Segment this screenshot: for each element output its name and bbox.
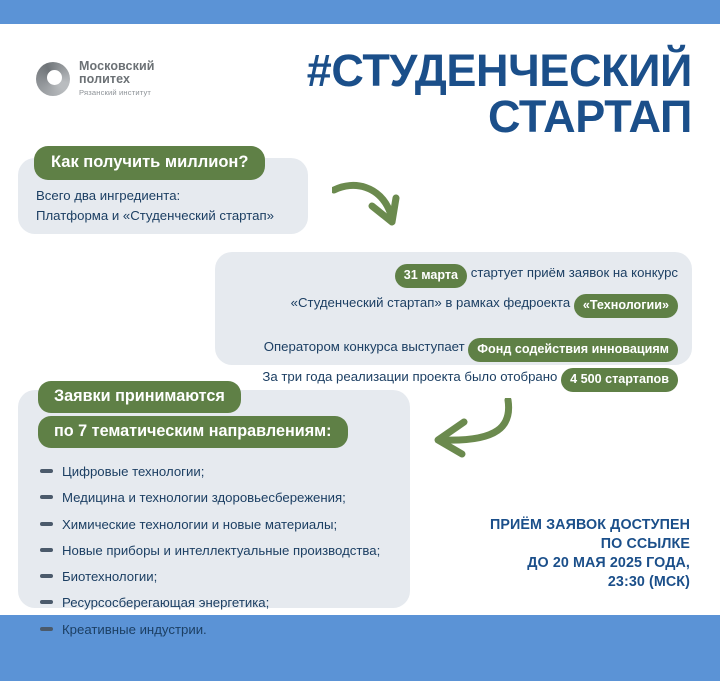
dash-bullet-icon bbox=[40, 574, 53, 578]
card1-heading-badge: Как получить миллион? bbox=[34, 146, 265, 180]
card-contest-details: 31 марта стартует приём заявок на конкур… bbox=[215, 252, 692, 365]
card-thematic-areas: Заявки принимаются по 7 тематическим нап… bbox=[18, 390, 410, 608]
card2-line-1-text: стартует приём заявок на конкурс bbox=[471, 265, 678, 280]
logo-line-2: политех bbox=[79, 73, 155, 86]
dash-bullet-icon bbox=[40, 522, 53, 526]
list-item: Медицина и технологии здоровьесбережения… bbox=[40, 488, 380, 508]
note-line-1: ПРИЁМ ЗАЯВОК ДОСТУПЕН bbox=[430, 516, 690, 535]
list-item: Новые приборы и интеллектуальные произво… bbox=[40, 541, 380, 561]
dash-bullet-icon bbox=[40, 548, 53, 552]
list-item: Ресурсосберегающая энергетика; bbox=[40, 593, 380, 613]
card-how-to-get-a-million: Как получить миллион? Всего два ингредие… bbox=[18, 158, 308, 234]
note-line-4: 23:30 (МСК) bbox=[430, 573, 690, 592]
list-item: Цифровые технологии; bbox=[40, 462, 380, 482]
card2-line-2-text: «Студенческий стартап» в рамках федроект… bbox=[291, 295, 571, 310]
card2-body: 31 марта стартует приём заявок на конкур… bbox=[262, 263, 678, 397]
badge-operator: Фонд содействия инновациям bbox=[468, 338, 678, 362]
card2-spacer bbox=[262, 323, 678, 337]
list-item: Биотехнологии; bbox=[40, 567, 380, 587]
thematic-areas-list: Цифровые технологии; Медицина и технолог… bbox=[40, 462, 380, 646]
card2-line-3-text: Оператором конкурса выступает bbox=[264, 339, 465, 354]
list-item-label: Химические технологии и новые материалы; bbox=[62, 515, 337, 535]
badge-startups-count: 4 500 стартапов bbox=[561, 368, 678, 392]
ring-logo-icon bbox=[36, 62, 70, 96]
dash-bullet-icon bbox=[40, 627, 53, 631]
list-item-label: Цифровые технологии; bbox=[62, 462, 204, 482]
card3-heading-line-2: по 7 тематическим направлениям: bbox=[38, 416, 348, 448]
badge-date: 31 марта bbox=[395, 264, 467, 288]
list-item: Химические технологии и новые материалы; bbox=[40, 515, 380, 535]
list-item-label: Биотехнологии; bbox=[62, 567, 157, 587]
dash-bullet-icon bbox=[40, 495, 53, 499]
top-blue-bar bbox=[0, 0, 720, 24]
note-line-2: ПО ССЫЛКЕ bbox=[430, 535, 690, 554]
list-item-label: Медицина и технологии здоровьесбережения… bbox=[62, 488, 346, 508]
logo-line-3: Рязанский институт bbox=[79, 89, 155, 97]
card1-body-line-1: Всего два ингредиента: bbox=[36, 186, 274, 206]
page-title-line-2: СТАРТАП bbox=[172, 94, 692, 140]
moscow-polytech-logo: Московский политех Рязанский институт bbox=[36, 60, 155, 97]
note-line-3: ДО 20 МАЯ 2025 ГОДА, bbox=[430, 554, 690, 573]
card1-body-line-2: Платформа и «Студенческий стартап» bbox=[36, 206, 274, 226]
card2-line-3: Оператором конкурса выступает Фонд содей… bbox=[262, 337, 678, 362]
application-deadline-note: ПРИЁМ ЗАЯВОК ДОСТУПЕН ПО ССЫЛКЕ ДО 20 МА… bbox=[430, 516, 690, 591]
logo-text: Московский политех Рязанский институт bbox=[79, 60, 155, 97]
list-item-label: Ресурсосберегающая энергетика; bbox=[62, 593, 269, 613]
card1-body: Всего два ингредиента: Платформа и «Студ… bbox=[36, 186, 274, 226]
page-title: #СТУДЕНЧЕСКИЙ СТАРТАП bbox=[172, 48, 692, 141]
page-title-line-1: #СТУДЕНЧЕСКИЙ bbox=[172, 48, 692, 94]
list-item: Креативные индустрии. bbox=[40, 620, 380, 640]
curved-arrow-left-icon bbox=[420, 398, 516, 464]
card3-heading: Заявки принимаются по 7 тематическим нап… bbox=[38, 381, 348, 451]
dash-bullet-icon bbox=[40, 600, 53, 604]
list-item-label: Новые приборы и интеллектуальные произво… bbox=[62, 541, 380, 561]
logo-line-1: Московский bbox=[79, 60, 155, 73]
dash-bullet-icon bbox=[40, 469, 53, 473]
card2-line-2: «Студенческий стартап» в рамках федроект… bbox=[262, 293, 678, 318]
card2-line-1: 31 марта стартует приём заявок на конкур… bbox=[262, 263, 678, 288]
card3-heading-line-1: Заявки принимаются bbox=[38, 381, 241, 413]
badge-technologies: «Технологии» bbox=[574, 294, 678, 318]
list-item-label: Креативные индустрии. bbox=[62, 620, 207, 640]
curved-arrow-down-right-icon bbox=[332, 178, 410, 236]
